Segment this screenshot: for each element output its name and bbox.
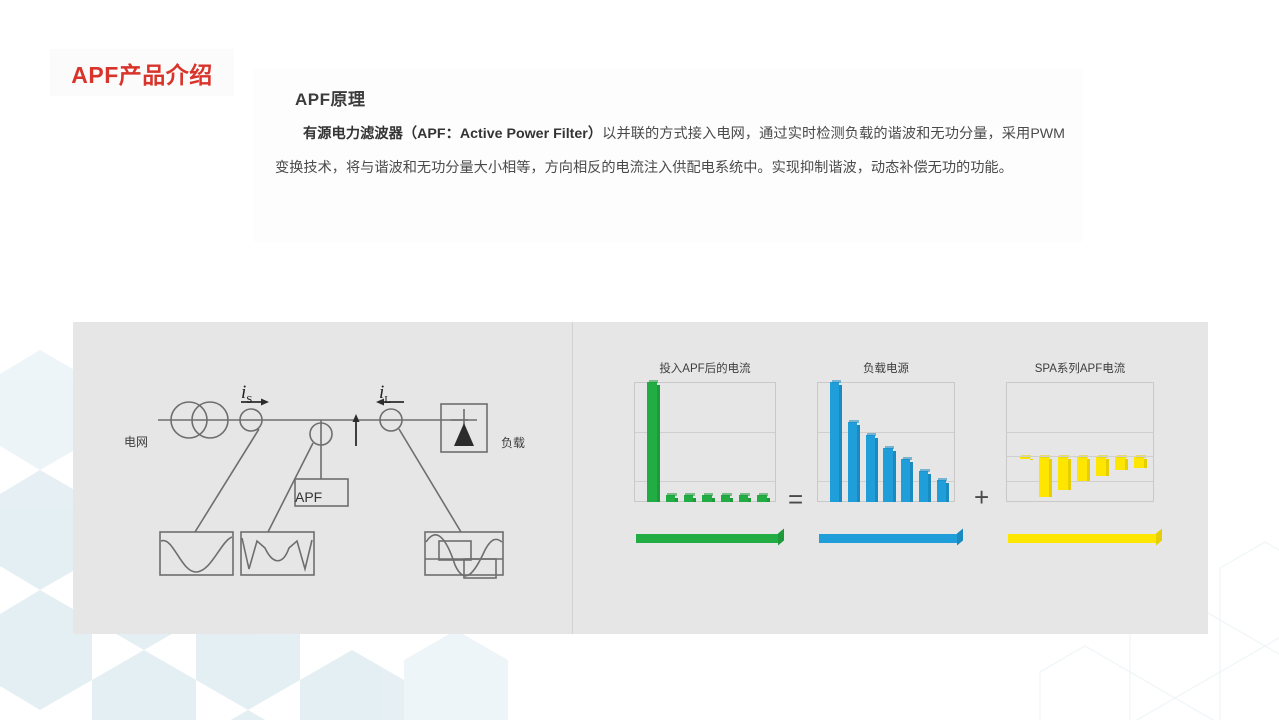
current-is-subscript: S [246, 394, 252, 406]
chart-bar-side [875, 438, 878, 502]
chart-baseline-0 [636, 534, 778, 543]
chart-bar [721, 495, 731, 502]
chart-baseline-edge-2 [1156, 528, 1162, 545]
description-card: APF原理 有源电力滤波器（APF：Active Power Filter）以并… [253, 68, 1083, 242]
grid-label: 电网 [124, 433, 148, 450]
card-body: 有源电力滤波器（APF：Active Power Filter）以并联的方式接入… [275, 117, 1065, 185]
arrow-apf-up-icon [353, 414, 360, 422]
chart-bar [1077, 456, 1087, 481]
chart-bar [883, 448, 892, 502]
circuit-diagram: 电网 负载 APF iS iL [73, 322, 573, 634]
load-label: 负载 [501, 434, 525, 451]
chart-title-2: SPA系列APF电流 [1006, 360, 1154, 376]
chart-bar-top [938, 478, 947, 481]
chart-plot-2 [1006, 382, 1154, 502]
chart-bar-top [920, 469, 929, 472]
operator-equals: = [788, 484, 803, 515]
chart-bar-top [759, 493, 769, 496]
operator-plus: + [974, 482, 989, 513]
chart-bar-side [730, 498, 733, 502]
chart-baseline-edge-0 [778, 528, 784, 545]
chart-bar [866, 435, 875, 502]
chart-bar [919, 471, 928, 502]
chart-bar-side [657, 385, 660, 502]
chart-bar-top [704, 493, 714, 496]
card-heading: APF原理 [295, 85, 366, 110]
current-il-subscript: L [384, 394, 391, 406]
chart-gridline [1007, 481, 1153, 482]
chart-bar-top [903, 457, 912, 460]
chart-bar-side [946, 483, 949, 502]
chart-bar-top [722, 493, 732, 496]
chart-bar-top [649, 380, 659, 383]
chart-bar-side [839, 385, 842, 502]
chart-bar-top [849, 420, 858, 423]
charts-group: 投入APF后的电流 = 负载电源 + SPA系列APF电流 [572, 322, 1208, 634]
chart-bar [1058, 456, 1068, 490]
chart-bar-top [685, 493, 695, 496]
chart-baseline-2 [1008, 534, 1156, 543]
diode-triangle-icon [454, 423, 474, 446]
slide-title-text: APF产品介绍 [71, 56, 213, 90]
chart-baseline-edge-1 [957, 528, 963, 545]
slide-title-tag: APF产品介绍 [50, 49, 234, 96]
circuit-diagram-svg [73, 322, 573, 634]
chart-title-0: 投入APF后的电流 [634, 360, 776, 376]
chart-bar-side [1144, 459, 1147, 468]
chart-bar-side [910, 462, 913, 502]
chart-bar-side [857, 425, 860, 502]
chart-bar [1115, 456, 1125, 470]
chart-bar-side [1125, 459, 1128, 470]
chart-bar-side [893, 451, 896, 502]
chart-bar-side [748, 498, 751, 502]
chart-bar [1096, 456, 1106, 476]
chart-bar-top [832, 380, 841, 383]
chart-bar-side [1049, 459, 1052, 497]
chart-bar [647, 382, 657, 502]
chart-bar [666, 495, 676, 502]
chart-bar [830, 382, 839, 502]
chart-zero-line [1007, 456, 1153, 457]
apf-box-label: APF [295, 489, 322, 505]
chart-bar [1039, 456, 1049, 497]
chart-bar [848, 422, 857, 502]
chart-bar-side [712, 498, 715, 502]
chart-bar-side [928, 474, 931, 502]
chart-baseline-1 [819, 534, 957, 543]
chart-bar-side [767, 498, 770, 502]
chart-bar-side [693, 498, 696, 502]
chart-gridline [1007, 432, 1153, 433]
chart-bar-side [1106, 459, 1109, 476]
current-il-label: iL [379, 382, 391, 406]
chart-bar-top [867, 433, 876, 436]
card-lead-text: 有源电力滤波器（APF：Active Power Filter） [303, 126, 602, 142]
chart-bar [757, 495, 767, 502]
chart-title-1: 负载电源 [817, 360, 955, 376]
chart-bar-side [1068, 459, 1071, 490]
chart-bar [702, 495, 712, 502]
chart-bar [739, 495, 749, 502]
chart-bar [937, 480, 946, 502]
chart-bar-top [667, 493, 677, 496]
chart-bar-top [740, 493, 750, 496]
chart-bar-side [675, 498, 678, 502]
chart-bar-top [885, 446, 894, 449]
arrow-is-icon [261, 399, 269, 406]
current-is-label: iS [241, 382, 252, 406]
chart-bar [684, 495, 694, 502]
chart-bar [901, 459, 910, 502]
chart-bar-side [1087, 459, 1090, 481]
